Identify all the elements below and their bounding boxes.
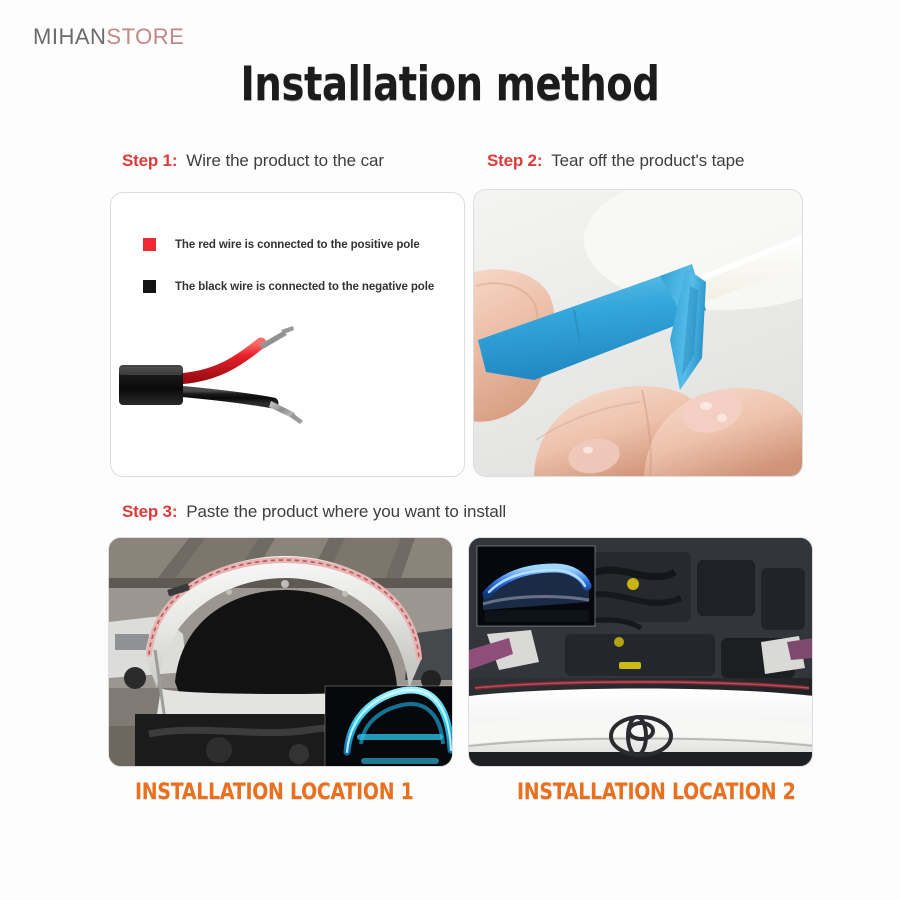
step-2-number: Step 2: xyxy=(487,151,542,170)
legend-row-positive: The red wire is connected to the positiv… xyxy=(143,238,434,251)
page-title: Installation method xyxy=(81,57,819,112)
brand-logo: MIHANSTORE xyxy=(33,24,184,50)
wire-photo xyxy=(111,321,465,461)
hood-underside-illustration-svg xyxy=(109,538,453,767)
installation-method-page: MIHANSTORE Installation method Step 1:Wi… xyxy=(0,0,900,900)
step-2-heading: Step 2:Tear off the product's tape xyxy=(487,151,744,171)
wire-illustration-svg xyxy=(111,321,465,461)
step-1-number: Step 1: xyxy=(122,151,177,170)
tape-peel-photo xyxy=(474,190,802,476)
black-swatch-icon xyxy=(143,280,156,293)
step-1-panel: The red wire is connected to the positiv… xyxy=(110,192,465,477)
installation-location-2-panel xyxy=(468,537,813,767)
step-2-text: Tear off the product's tape xyxy=(551,151,744,170)
installation-location-2-caption: INSTALLATION LOCATION 2 xyxy=(517,780,796,805)
legend-label-positive: The red wire is connected to the positiv… xyxy=(175,239,420,251)
legend-row-negative: The black wire is connected to the negat… xyxy=(143,280,434,293)
red-swatch-icon xyxy=(143,238,156,251)
installation-location-1-panel xyxy=(108,537,453,767)
wiring-legend: The red wire is connected to the positiv… xyxy=(143,238,434,322)
brand-logo-part2: STORE xyxy=(106,24,184,49)
hood-underside-photo xyxy=(109,538,452,766)
step-3-number: Step 3: xyxy=(122,502,177,521)
engine-bay-photo xyxy=(469,538,812,766)
step-1-text: Wire the product to the car xyxy=(186,151,384,170)
brand-logo-part1: MIHAN xyxy=(33,24,106,49)
tape-peel-illustration-svg xyxy=(474,190,803,477)
step-2-panel xyxy=(473,189,803,477)
legend-label-negative: The black wire is connected to the negat… xyxy=(175,281,434,293)
installation-location-1-caption: INSTALLATION LOCATION 1 xyxy=(135,780,414,805)
step-3-text: Paste the product where you want to inst… xyxy=(186,502,506,521)
engine-bay-illustration-svg xyxy=(469,538,813,767)
step-1-heading: Step 1:Wire the product to the car xyxy=(122,151,384,171)
step-3-heading: Step 3:Paste the product where you want … xyxy=(122,502,506,522)
